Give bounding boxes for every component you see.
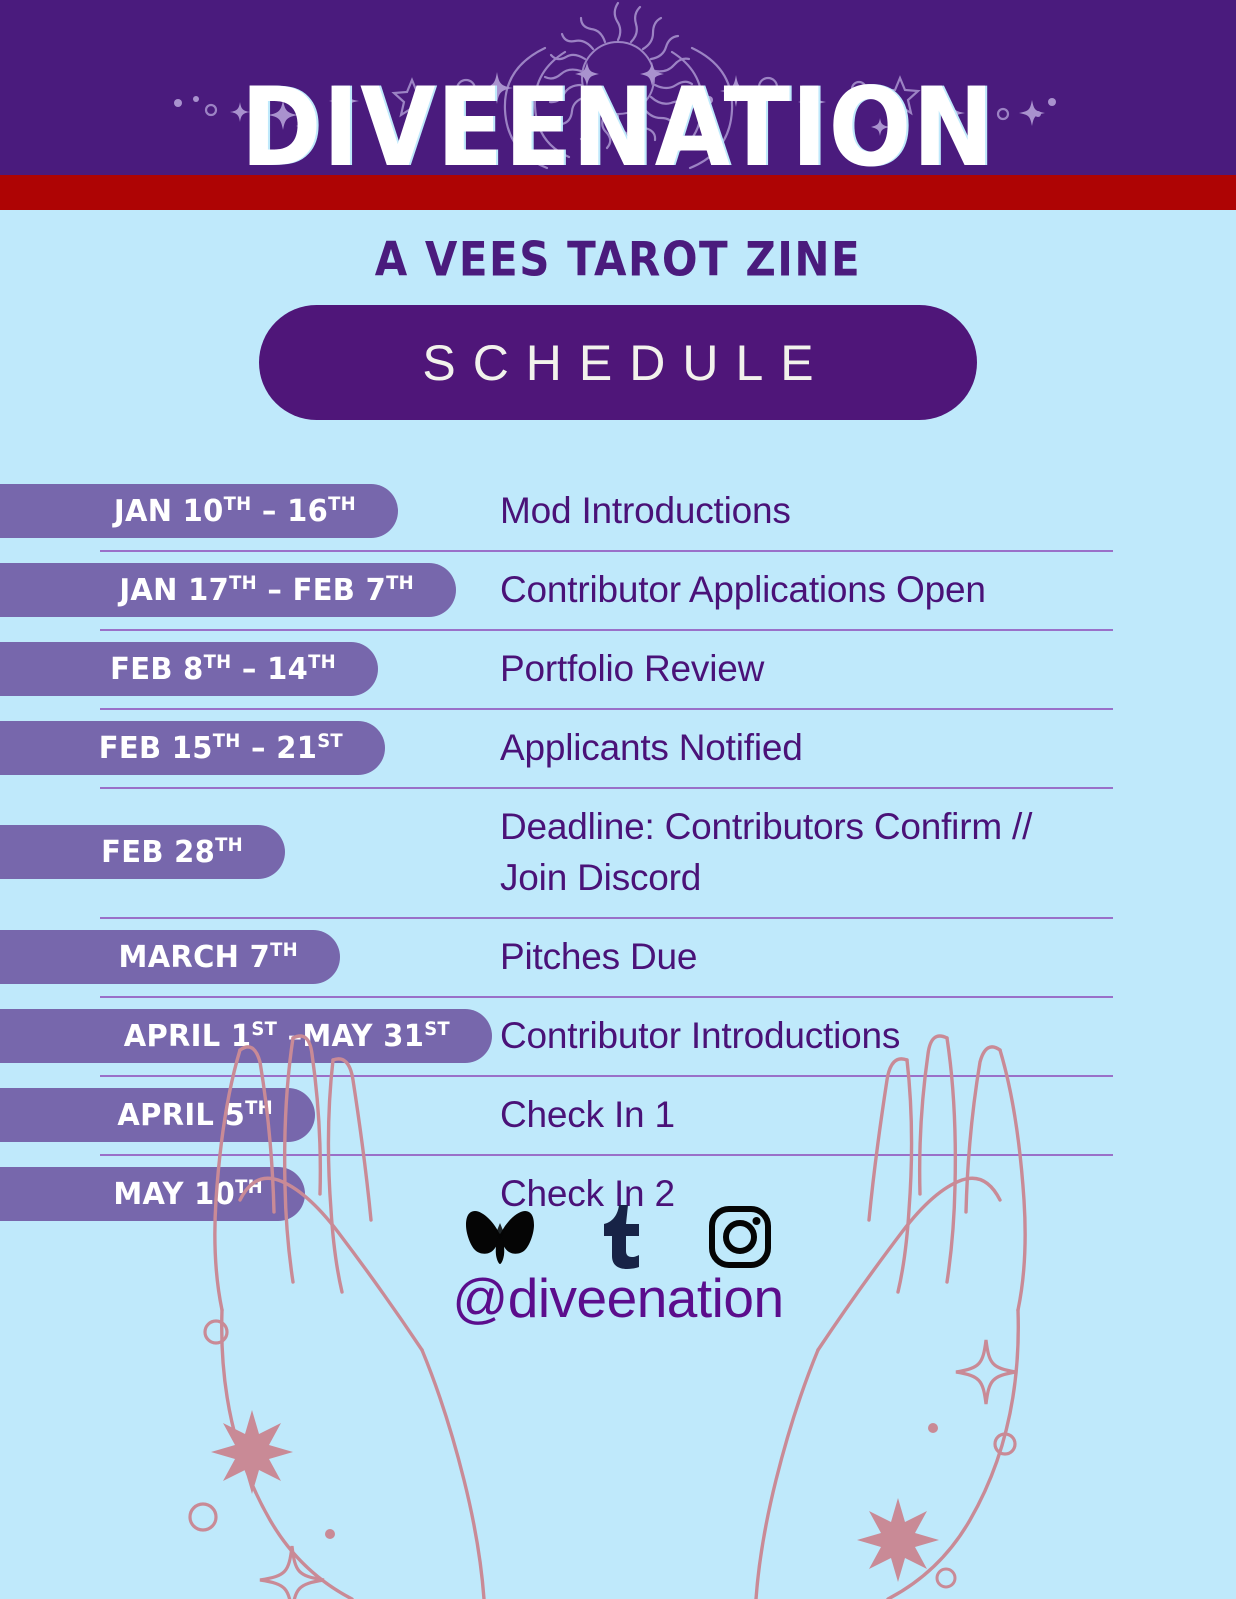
description-cell: Pitches Due — [500, 917, 1236, 996]
subtitle: A VEES TAROT ZINE — [0, 232, 1236, 287]
sun-icon — [545, 3, 692, 148]
description-label: Contributor Applications Open — [500, 564, 986, 615]
crescent-moon-icon — [690, 48, 732, 168]
date-label: MARCH 7TH — [119, 941, 298, 972]
circle-icon — [852, 82, 866, 96]
crescent-moon-icon — [505, 48, 547, 168]
instagram-icon[interactable] — [709, 1206, 771, 1268]
description-cell: Mod Introductions — [500, 471, 1236, 550]
burst-star-icon — [211, 1410, 293, 1494]
description-cell: Portfolio Review — [500, 629, 1236, 708]
dot-icon — [928, 1423, 938, 1433]
schedule-badge: SCHEDULE — [259, 305, 977, 420]
social-icons — [0, 1205, 1236, 1269]
date-pill: FEB 8TH – 14TH — [0, 642, 378, 696]
bluesky-butterfly-icon[interactable] — [465, 1209, 535, 1265]
date-pill: FEB 15TH – 21ST — [0, 721, 385, 775]
description-label: Applicants Notified — [500, 722, 803, 773]
sparkle-star-icon — [956, 1340, 1016, 1404]
circle-icon — [190, 1504, 216, 1530]
schedule-row: FEB 15TH – 21STApplicants Notified — [0, 708, 1236, 787]
sparkle-cluster — [174, 62, 1056, 136]
circle-icon — [937, 1569, 955, 1587]
date-cell: JAN 10TH – 16TH — [0, 471, 500, 550]
date-label: FEB 8TH – 14TH — [110, 653, 336, 684]
date-cell: MARCH 7TH — [0, 917, 500, 996]
poster-page: DIVEENATION A VEES TAROT ZINE SCHEDULE J… — [0, 0, 1236, 1599]
description-label: Deadline: Contributors Confirm // Join D… — [500, 801, 1106, 903]
schedule-badge-label: SCHEDULE — [405, 334, 830, 392]
date-pill: JAN 17TH – FEB 7TH — [0, 563, 456, 617]
description-label: Portfolio Review — [500, 643, 764, 694]
social-handle[interactable]: @diveenation — [0, 1266, 1236, 1330]
schedule-row: FEB 8TH – 14THPortfolio Review — [0, 629, 1236, 708]
date-label: FEB 28TH — [101, 837, 243, 868]
date-cell: JAN 17TH – FEB 7TH — [0, 550, 500, 629]
date-pill: MARCH 7TH — [0, 930, 340, 984]
schedule-row: JAN 17TH – FEB 7THContributor Applicatio… — [0, 550, 1236, 629]
burst-star-icon — [857, 1498, 939, 1582]
circle-icon — [998, 109, 1008, 119]
description-cell: Deadline: Contributors Confirm // Join D… — [500, 787, 1236, 917]
circle-icon — [206, 105, 216, 115]
decor-sparkles — [190, 1321, 1016, 1599]
description-cell: Applicants Notified — [500, 708, 1236, 787]
schedule-row: JAN 10TH – 16THMod Introductions — [0, 471, 1236, 550]
star-outline-icon — [394, 80, 430, 115]
accent-band — [0, 175, 1236, 210]
dot-icon — [325, 1529, 335, 1539]
description-label: Pitches Due — [500, 931, 697, 982]
schedule-row: FEB 28THDeadline: Contributors Confirm /… — [0, 787, 1236, 917]
circle-icon — [759, 78, 777, 96]
date-cell: FEB 28TH — [0, 787, 500, 917]
header-banner: DIVEENATION — [0, 0, 1236, 175]
circle-icon — [457, 80, 475, 98]
date-label: FEB 15TH – 21ST — [99, 732, 343, 763]
date-pill: FEB 28TH — [0, 825, 285, 879]
star-outline-icon — [882, 78, 918, 113]
date-cell: FEB 8TH – 14TH — [0, 629, 500, 708]
header-decoration — [0, 0, 1236, 175]
date-pill: JAN 10TH – 16TH — [0, 484, 398, 538]
date-label: JAN 17TH – FEB 7TH — [119, 574, 414, 605]
date-label: JAN 10TH – 16TH — [114, 495, 356, 526]
description-cell: Contributor Applications Open — [500, 550, 1236, 629]
description-label: Mod Introductions — [500, 485, 791, 536]
date-cell: FEB 15TH – 21ST — [0, 708, 500, 787]
tumblr-icon[interactable] — [597, 1205, 647, 1269]
schedule-row: MARCH 7THPitches Due — [0, 917, 1236, 996]
